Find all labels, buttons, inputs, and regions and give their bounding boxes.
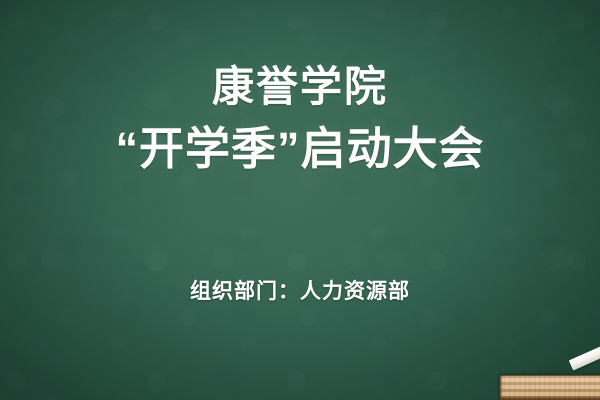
wood-grain-texture bbox=[500, 375, 600, 400]
board-vignette bbox=[0, 0, 600, 400]
chalk-stick-icon bbox=[569, 344, 600, 370]
chalk-streak-overlay bbox=[0, 0, 600, 400]
presentation-slide: 康誉学院 “开学季”启动大会 组织部门：人力资源部 bbox=[0, 0, 600, 400]
chalk-texture-overlay bbox=[0, 0, 600, 400]
ledge-left-edge bbox=[500, 375, 503, 400]
title-line-2: “开学季”启动大会 bbox=[0, 122, 600, 176]
chalk-ledge bbox=[500, 375, 600, 400]
title-line-1: 康誉学院 bbox=[0, 62, 600, 112]
title-block: 康誉学院 “开学季”启动大会 bbox=[0, 62, 600, 176]
subtitle-organizing-department: 组织部门：人力资源部 bbox=[0, 275, 600, 305]
